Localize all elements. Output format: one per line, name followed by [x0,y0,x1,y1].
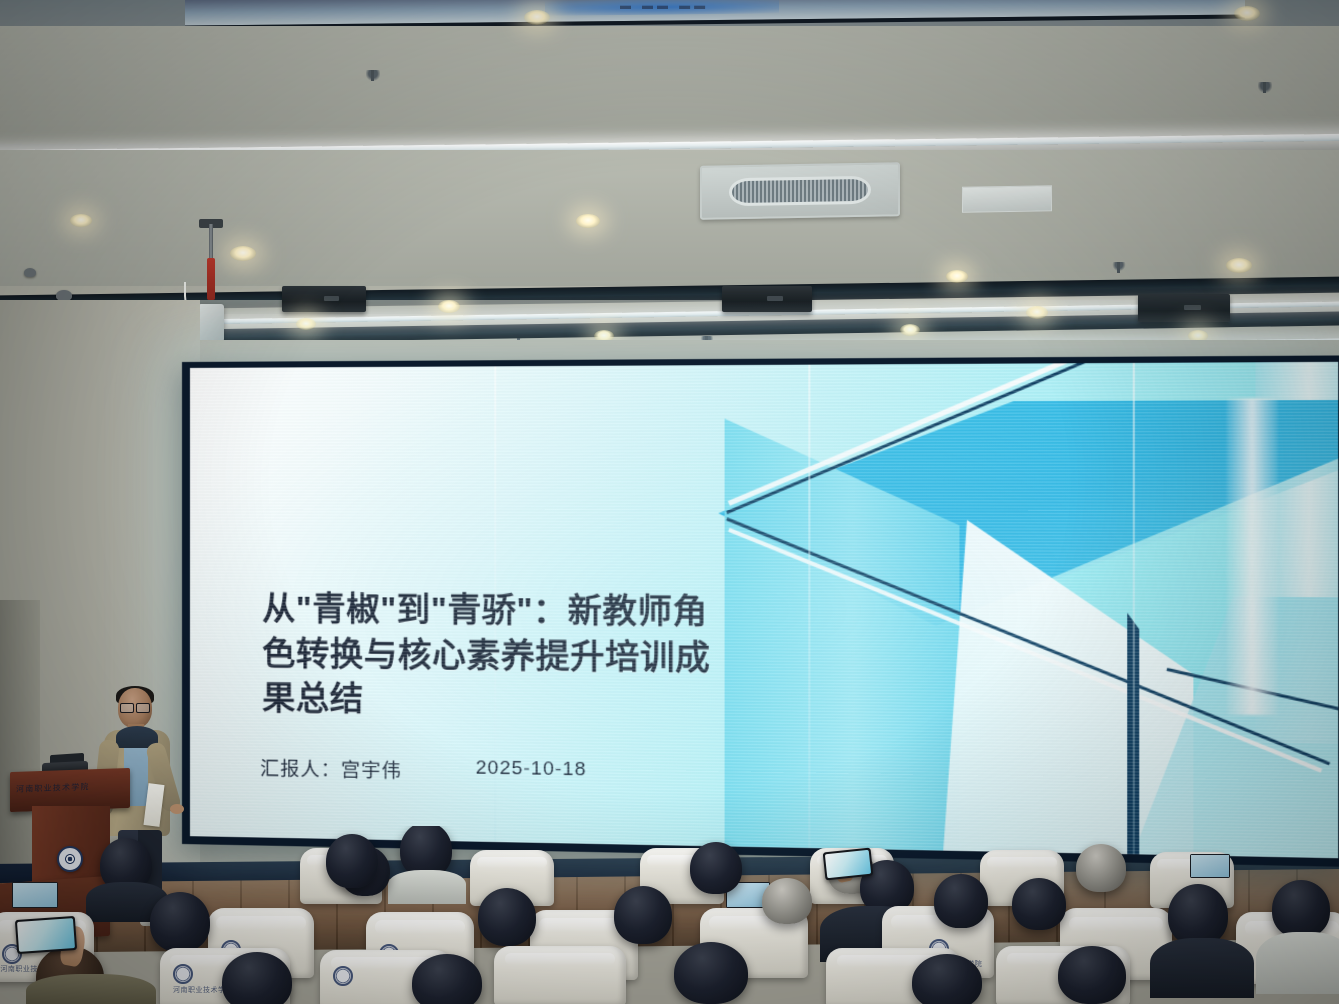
slide-byline: 汇报人：宫宇伟 2025-10-18 [260,754,586,786]
sprinkler-icon [1112,262,1126,271]
led-panel-seam [1133,363,1135,854]
attendee-head [222,952,292,1004]
attendee-head [1058,946,1126,1004]
led-display-screen: 从"青椒"到"青骄"：新教师角 色转换与核心素养提升培训成 果总结 汇报人：宫宇… [182,355,1339,866]
downlight [230,246,256,261]
auditorium-photo: ▬ ▬▬ ▬▬ [0,0,1339,1004]
attendee-shoulders [388,870,466,904]
sprinkler-icon [1258,82,1272,94]
slide-surface: 从"青椒"到"青骄"：新教师角 色转换与核心素养提升培训成 果总结 汇报人：宫宇… [190,362,1338,858]
hanging-projector-rig [196,224,226,344]
speaker [722,286,812,312]
attendee-head [326,834,378,888]
slide-title-line-2: 色转换与核心素养提升培训成 [262,631,821,682]
ac-cassette [700,162,900,219]
attendee-head [762,878,812,924]
downlight [1026,306,1048,319]
ceiling: ▬ ▬▬ ▬▬ [0,0,1339,380]
speaker [282,286,366,312]
chair-crest-icon [333,966,353,986]
audience-seating: 河南职业技术学院 河南职业技术学院 河南职业技术学院 [0,826,1339,1004]
slide-title: 从"青椒"到"青骄"：新教师角 色转换与核心素养提升培训成 果总结 [262,586,821,728]
rig-device-body [198,304,224,342]
phone-screen [17,918,75,952]
slide-title-line-3: 果总结 [262,676,821,728]
attendee-laptop[interactable] [1190,854,1230,878]
slide-date: 2025-10-18 [476,757,587,786]
attendee-head [412,954,482,1004]
attendee-head [150,892,210,952]
eyeglasses-icon [120,703,150,711]
downlight [296,318,316,330]
ceiling-soffit-1 [0,26,1339,144]
downlight [900,324,920,336]
photographer-shoulders [26,974,156,1004]
presenter-right-hand [170,804,184,814]
attendee-head [1012,878,1066,930]
speaker [1138,294,1230,322]
attendee-head [934,874,988,928]
downlight [70,214,92,227]
attendee-head [690,842,742,894]
podium-engraved-text: 河南职业技术学院 [16,781,90,795]
phone-screen [825,850,871,878]
downlight [1226,258,1252,273]
attendee-head [1168,884,1228,946]
attendee-head [478,888,536,946]
slide-presenter-label: 汇报人：宫宇伟 [260,754,402,783]
art-corner-sheen [1227,398,1278,715]
attendee-head [1272,880,1330,938]
attendee-head [1076,844,1126,892]
ac-grille [729,176,870,206]
downlight [524,10,550,25]
downlight [1234,6,1260,21]
attendee-phone[interactable] [15,916,77,954]
attendee-shoulders [1150,938,1254,998]
attendee-head [614,886,672,944]
attendee-head [912,954,982,1004]
upper-screen-text: ▬ ▬▬ ▬▬ [620,0,880,18]
attendee-shoulders [1256,932,1339,994]
downlight [438,300,460,313]
attendee-head [674,942,748,1004]
chair-crest-icon [173,964,193,984]
screen-bezel: 从"青椒"到"青骄"：新教师角 色转换与核心素养提升培训成 果总结 汇报人：宫宇… [182,355,1339,866]
air-vent [962,185,1052,213]
sprinkler-icon [366,70,380,82]
attendee-phone[interactable] [823,848,874,881]
seat-back[interactable] [494,946,626,1004]
attendee-laptop[interactable] [12,882,58,908]
downlight [946,270,968,283]
downlight [576,214,600,228]
slide-title-line-1: 从"青椒"到"青骄"：新教师角 [262,586,821,635]
smoke-detector-icon [24,268,36,277]
